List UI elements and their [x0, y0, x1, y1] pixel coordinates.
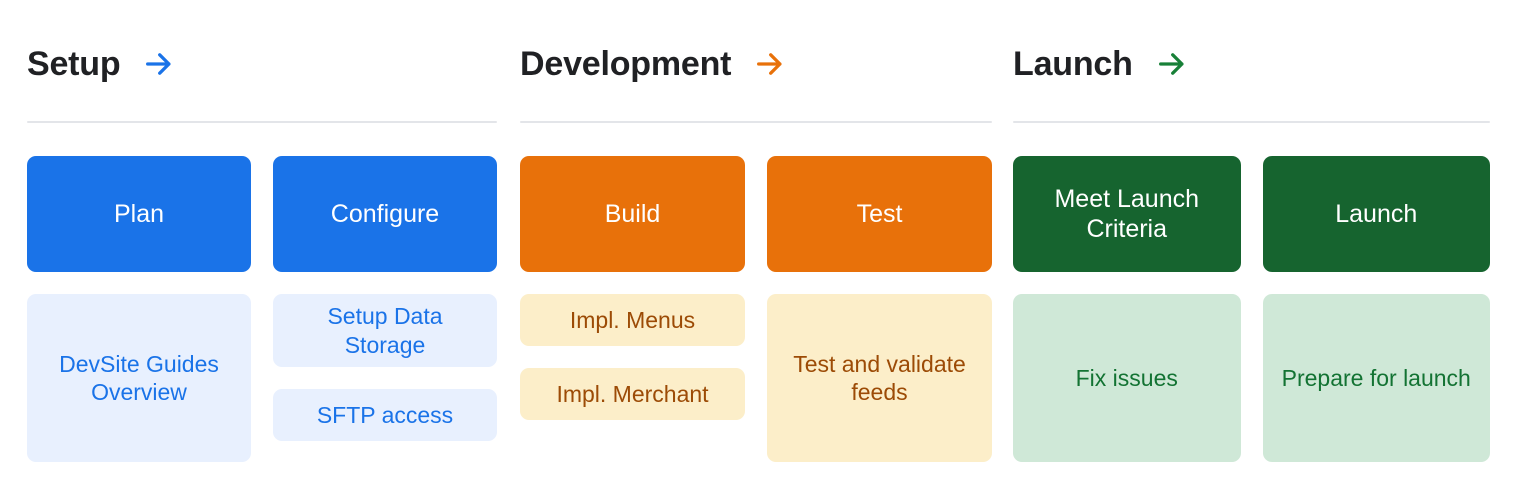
- sub-group-launch: Prepare for launch: [1263, 294, 1491, 462]
- phase-divider-development: [520, 121, 992, 123]
- arrow-right-icon: [142, 47, 176, 81]
- phase-main-row-setup: Plan Configure: [27, 156, 497, 272]
- phase-sub-row-launch: Fix issues Prepare for launch: [1013, 294, 1490, 462]
- phase-column-development: Development Build Test Impl. Menus Impl.…: [520, 0, 992, 484]
- phase-sub-row-development: Impl. Menus Impl. Merchant Test and vali…: [520, 294, 992, 462]
- phase-column-launch: Launch Meet Launch Criteria Launch Fix i…: [1013, 0, 1490, 484]
- arrow-right-icon: [753, 47, 787, 81]
- sub-group-build: Impl. Menus Impl. Merchant: [520, 294, 745, 462]
- card-fix-issues[interactable]: Fix issues: [1013, 294, 1241, 462]
- card-launch[interactable]: Launch: [1263, 156, 1491, 272]
- card-test[interactable]: Test: [767, 156, 992, 272]
- card-test-and-validate-feeds[interactable]: Test and validate feeds: [767, 294, 992, 462]
- phase-divider-launch: [1013, 121, 1490, 123]
- phase-roadmap-board: Setup Plan Configure DevSite Guides Over…: [0, 0, 1518, 484]
- sub-group-plan: DevSite Guides Overview: [27, 294, 251, 462]
- card-meet-launch-criteria[interactable]: Meet Launch Criteria: [1013, 156, 1241, 272]
- phase-title-development: Development: [520, 44, 731, 84]
- card-prepare-for-launch[interactable]: Prepare for launch: [1263, 294, 1491, 462]
- card-devsite-guides-overview[interactable]: DevSite Guides Overview: [27, 294, 251, 462]
- sub-group-meet-launch-criteria: Fix issues: [1013, 294, 1241, 462]
- phase-title-setup: Setup: [27, 44, 120, 84]
- card-plan[interactable]: Plan: [27, 156, 251, 272]
- phase-main-row-launch: Meet Launch Criteria Launch: [1013, 156, 1490, 272]
- phase-title-launch: Launch: [1013, 44, 1133, 84]
- phase-header-launch: Launch: [1013, 38, 1189, 90]
- phase-header-development: Development: [520, 38, 787, 90]
- card-setup-data-storage[interactable]: Setup Data Storage: [273, 294, 497, 367]
- card-impl-menus[interactable]: Impl. Menus: [520, 294, 745, 346]
- card-configure[interactable]: Configure: [273, 156, 497, 272]
- phase-sub-row-setup: DevSite Guides Overview Setup Data Stora…: [27, 294, 497, 462]
- sub-group-test: Test and validate feeds: [767, 294, 992, 462]
- card-sftp-access[interactable]: SFTP access: [273, 389, 497, 441]
- phase-divider-setup: [27, 121, 497, 123]
- phase-column-setup: Setup Plan Configure DevSite Guides Over…: [27, 0, 497, 484]
- sub-group-configure: Setup Data Storage SFTP access: [273, 294, 497, 462]
- phase-main-row-development: Build Test: [520, 156, 992, 272]
- card-build[interactable]: Build: [520, 156, 745, 272]
- phase-header-setup: Setup: [27, 38, 176, 90]
- card-impl-merchant[interactable]: Impl. Merchant: [520, 368, 745, 420]
- arrow-right-icon: [1155, 47, 1189, 81]
